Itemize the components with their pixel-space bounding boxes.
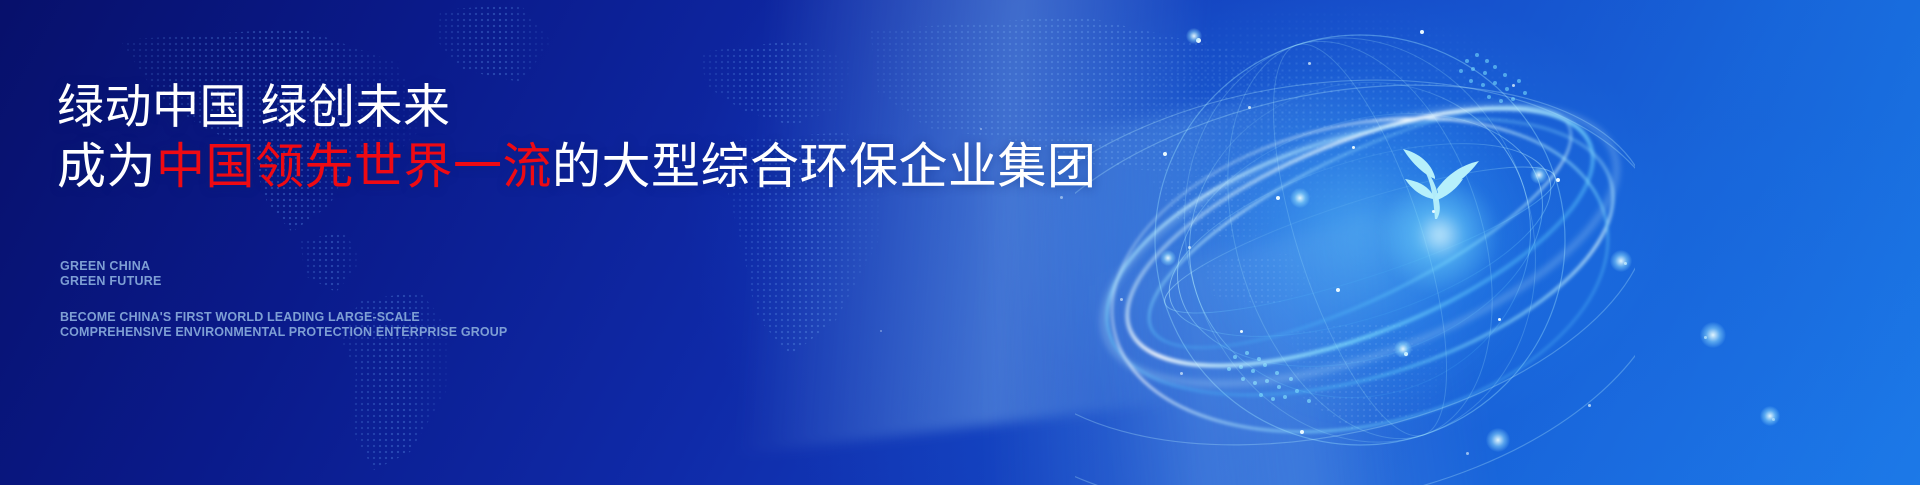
tagline-long-line-1: BECOME CHINA'S FIRST WORLD LEADING LARGE… (60, 310, 507, 325)
globe-graphic (1075, 0, 1635, 485)
sprout-icon (1375, 115, 1495, 235)
tagline-long-line-2: COMPREHENSIVE ENVIRONMENTAL PROTECTION E… (60, 325, 507, 340)
headline-block: 绿动中国 绿创未来 成为中国领先世界一流的大型综合环保企业集团 (57, 78, 1007, 197)
tagline-short-block: GREEN CHINA GREEN FUTURE (60, 259, 162, 288)
tagline-long-block: BECOME CHINA'S FIRST WORLD LEADING LARGE… (60, 310, 507, 339)
headline-prefix: 成为 (57, 140, 156, 194)
hero-banner: 绿动中国 绿创未来 成为中国领先世界一流的大型综合环保企业集团 GREEN CH… (0, 0, 1920, 485)
headline-highlight: 中国领先世界一流 (156, 140, 552, 194)
headline-suffix: 的大型综合环保企业集团 (552, 140, 1097, 194)
headline-line-1: 绿动中国 绿创未来 (57, 78, 1007, 135)
tagline-green-china: GREEN CHINA (60, 259, 162, 274)
tagline-green-future: GREEN FUTURE (60, 274, 162, 289)
banner-content: 绿动中国 绿创未来 成为中国领先世界一流的大型综合环保企业集团 GREEN CH… (0, 0, 1020, 485)
globe-wireframe-icon (1075, 0, 1635, 485)
headline-line-2: 成为中国领先世界一流的大型综合环保企业集团 (57, 137, 1007, 197)
